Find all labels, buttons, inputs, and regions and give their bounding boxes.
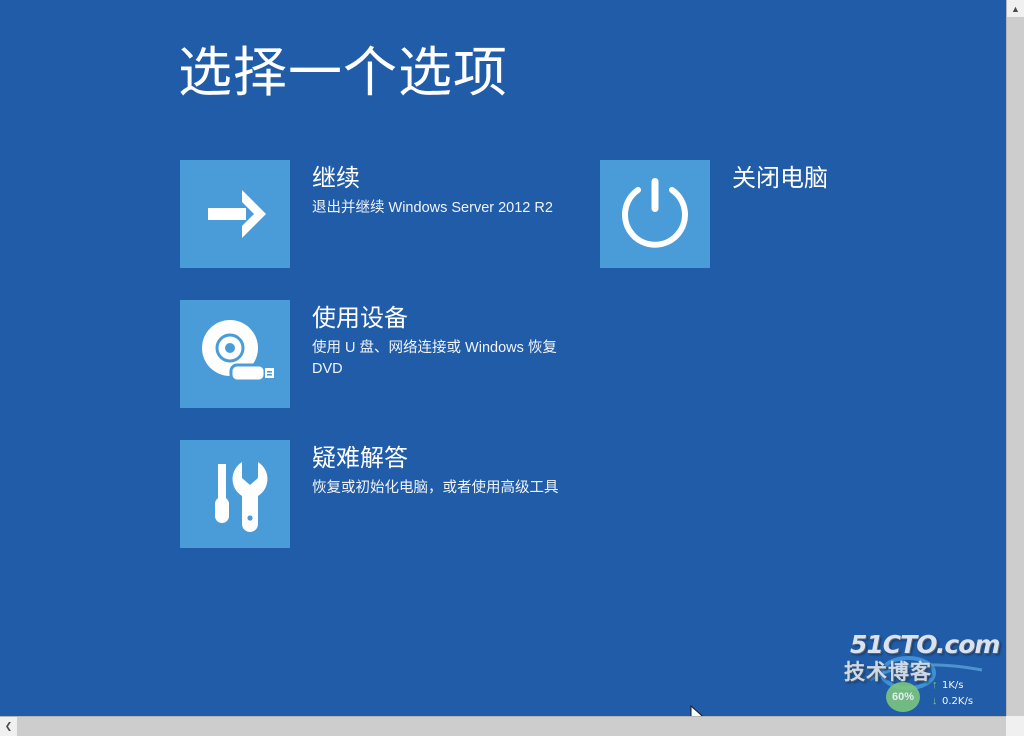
power-icon <box>600 160 710 268</box>
continue-text: 继续 退出并继续 Windows Server 2012 R2 <box>312 160 553 219</box>
option-turn-off-pc[interactable]: 关闭电脑 <box>600 160 828 268</box>
use-device-tile[interactable] <box>180 300 290 408</box>
option-title: 关闭电脑 <box>732 164 828 194</box>
troubleshoot-tile[interactable] <box>180 440 290 548</box>
option-title: 继续 <box>312 164 553 194</box>
use-device-text: 使用设备 使用 U 盘、网络连接或 Windows 恢复 DVD <box>312 300 562 379</box>
arrow-right-icon <box>180 160 290 268</box>
disc-usb-icon <box>180 300 290 408</box>
mouse-cursor <box>690 705 704 716</box>
page-title: 选择一个选项 <box>178 44 508 103</box>
continue-tile[interactable] <box>180 160 290 268</box>
scrollbar-corner <box>1006 716 1024 736</box>
watermark-brand: 51CTO.com <box>850 630 999 659</box>
option-description: 退出并继续 Windows Server 2012 R2 <box>312 198 553 219</box>
horizontal-scrollbar[interactable]: ❮ <box>0 716 1024 736</box>
scroll-left-button[interactable]: ❮ <box>0 717 17 736</box>
troubleshoot-text: 疑难解答 恢复或初始化电脑，或者使用高级工具 <box>312 440 559 499</box>
option-title: 使用设备 <box>312 304 562 334</box>
watermark-swoosh-icon <box>866 654 986 692</box>
scroll-up-button[interactable]: ▲ <box>1007 0 1024 17</box>
option-description: 使用 U 盘、网络连接或 Windows 恢复 DVD <box>312 338 562 379</box>
tools-icon <box>180 440 290 548</box>
watermark-subtitle: 技术博客 <box>844 656 932 686</box>
scroll-up-arrow-icon: ▲ <box>1011 4 1020 14</box>
option-title: 疑难解答 <box>312 444 559 474</box>
watermark: 51CTO.com 技术博客 <box>842 630 992 692</box>
turn-off-pc-text: 关闭电脑 <box>732 160 828 198</box>
scroll-left-arrow-icon: ❮ <box>5 721 13 732</box>
option-description: 恢复或初始化电脑，或者使用高级工具 <box>312 478 559 499</box>
vertical-scrollbar[interactable]: ▲ <box>1006 0 1024 716</box>
windows-recovery-screen: 选择一个选项 继续 退出并继续 Windows Server 2012 R2 <box>0 0 1006 716</box>
screen-root: 选择一个选项 继续 退出并继续 Windows Server 2012 R2 <box>0 0 1024 736</box>
option-troubleshoot[interactable]: 疑难解答 恢复或初始化电脑，或者使用高级工具 <box>180 440 559 548</box>
option-use-device[interactable]: 使用设备 使用 U 盘、网络连接或 Windows 恢复 DVD <box>180 300 562 408</box>
option-continue[interactable]: 继续 退出并继续 Windows Server 2012 R2 <box>180 160 553 268</box>
turn-off-pc-tile[interactable] <box>600 160 710 268</box>
